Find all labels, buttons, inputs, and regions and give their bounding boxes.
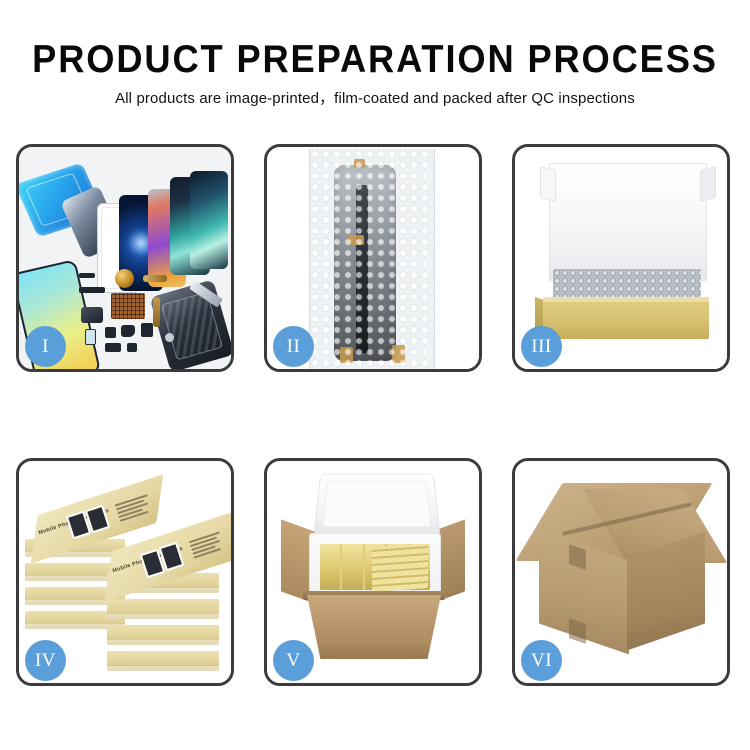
process-step-2[interactable]: II <box>264 144 482 372</box>
step-badge-3: III <box>521 326 562 367</box>
adhesive-tab <box>340 347 353 363</box>
spare-part <box>121 325 135 337</box>
spare-part <box>81 307 103 323</box>
foam-liner <box>309 533 441 599</box>
step-badge-5: V <box>273 640 314 681</box>
yellow-boxes-stack <box>372 544 428 592</box>
spare-part <box>105 343 121 352</box>
stacked-box <box>107 599 219 619</box>
shipping-carton <box>531 483 711 659</box>
speaker-module <box>115 269 134 288</box>
spare-part <box>141 323 153 337</box>
process-step-1[interactable]: I <box>16 144 234 372</box>
process-step-3[interactable]: III <box>512 144 730 372</box>
spare-part <box>105 327 116 338</box>
step-badge-1: I <box>25 326 66 367</box>
process-step-5[interactable]: V <box>264 458 482 686</box>
step-badge-2: II <box>273 326 314 367</box>
teal-wave-phone-2 <box>190 171 228 269</box>
spare-part <box>79 273 95 278</box>
step-badge-4: IV <box>25 640 66 681</box>
flex-cable <box>143 275 167 282</box>
white-box-lid <box>549 163 707 281</box>
adhesive-tab <box>392 345 405 363</box>
page-header: PRODUCT PREPARATION PROCESS All products… <box>0 0 750 110</box>
stacked-box <box>107 625 219 645</box>
carton-body <box>307 595 441 659</box>
process-step-grid: I II III <box>16 144 735 686</box>
wrapped-flex-cable <box>356 185 368 353</box>
page-title: PRODUCT PREPARATION PROCESS <box>26 38 724 82</box>
spare-part <box>85 329 96 345</box>
kraft-box-tray <box>543 297 709 339</box>
adhesive-tab <box>354 159 365 168</box>
process-step-4[interactable]: Mobile Phone Spare Parts Mobile Phone Sp… <box>16 458 234 686</box>
step-badge-6: VI <box>521 640 562 681</box>
process-step-6[interactable]: VI <box>512 458 730 686</box>
bubble-wrap-bag <box>309 149 435 369</box>
spare-part <box>165 333 174 342</box>
spare-part <box>127 343 137 352</box>
page-subtitle: All products are image-printed，film-coat… <box>6 88 745 110</box>
adhesive-tab <box>348 235 364 245</box>
stacked-box <box>107 651 219 671</box>
phone-chassis-back <box>150 279 231 369</box>
foam-lid <box>313 474 440 536</box>
spare-part <box>79 287 105 293</box>
flex-cable <box>153 297 160 327</box>
copper-chip-array <box>111 293 145 319</box>
